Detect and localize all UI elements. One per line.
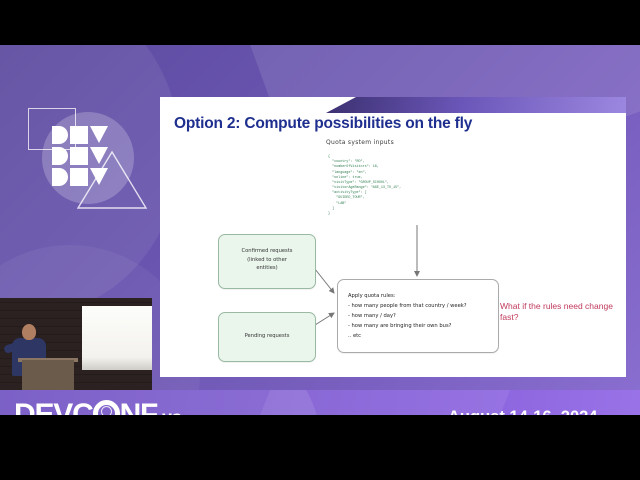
banner-dates: August 14-16, 2024 — [448, 406, 597, 415]
quota-rules-text: Apply quota rules: - how many people fro… — [348, 292, 467, 341]
devconf-wordmark: DEVCNF.us open source community conferen… — [14, 400, 181, 415]
json-code-block: { "country": "RO", "numberOfVisitors": 1… — [328, 155, 468, 217]
quota-rules-box: Apply quota rules: - how many people fro… — [337, 279, 499, 353]
logo-o-icon — [93, 400, 120, 415]
podium — [22, 360, 74, 390]
slide-accent-band — [326, 97, 626, 113]
letterbox-bottom — [0, 415, 640, 480]
confirmed-requests-label: Confirmed requests (linked to other enti… — [219, 247, 315, 273]
speaker-video-feed — [0, 298, 152, 390]
pending-requests-box: Pending requests — [218, 312, 316, 362]
banner-dates-block: August 14-16, 2024 Boston, MA — [448, 406, 597, 415]
presentation-slide: Option 2: Compute possibilities on the f… — [160, 97, 626, 377]
slide-title: Option 2: Compute possibilities on the f… — [174, 115, 472, 133]
logo-us-text: .us — [157, 408, 181, 415]
speaker-head — [22, 324, 36, 340]
pending-requests-label: Pending requests — [219, 332, 315, 341]
logo-nf-text: NF — [120, 398, 158, 415]
logo-dev-text: DEVC — [14, 398, 93, 415]
devconf-mark — [10, 100, 150, 220]
slide-subtitle: Quota system inputs — [326, 139, 394, 146]
devconf-logo-text: DEVCNF.us — [14, 400, 181, 415]
confirmed-requests-box: Confirmed requests (linked to other enti… — [218, 234, 316, 289]
video-player-stage: Option 2: Compute possibilities on the f… — [0, 0, 640, 480]
projection-screen — [82, 306, 152, 370]
callout-question: What if the rules need change fast? — [500, 301, 618, 324]
logo-triangle-icon — [72, 148, 152, 218]
conference-frame: Option 2: Compute possibilities on the f… — [0, 45, 640, 415]
conference-banner: DEVCNF.us open source community conferen… — [0, 390, 640, 415]
letterbox-top — [0, 0, 640, 45]
